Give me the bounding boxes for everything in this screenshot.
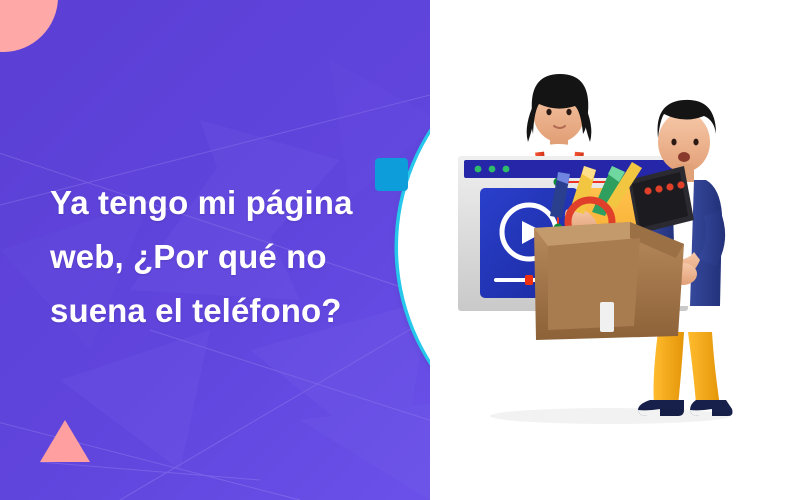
headline-line-3: suena el teléfono? (50, 284, 420, 338)
pink-triangle-decoration (40, 420, 90, 462)
cardboard-box (534, 222, 684, 340)
green-dot (489, 166, 496, 173)
progress-marker (525, 275, 533, 285)
green-dot (475, 166, 482, 173)
green-dot (503, 166, 510, 173)
page-title: Ya tengo mi página web, ¿Por qué no suen… (50, 176, 420, 338)
illustration-team-browser (450, 60, 795, 460)
headline-line-2: web, ¿Por qué no (50, 230, 420, 284)
headline-line-1: Ya tengo mi página (50, 176, 420, 230)
promo-banner: Ya tengo mi página web, ¿Por qué no suen… (0, 0, 795, 500)
